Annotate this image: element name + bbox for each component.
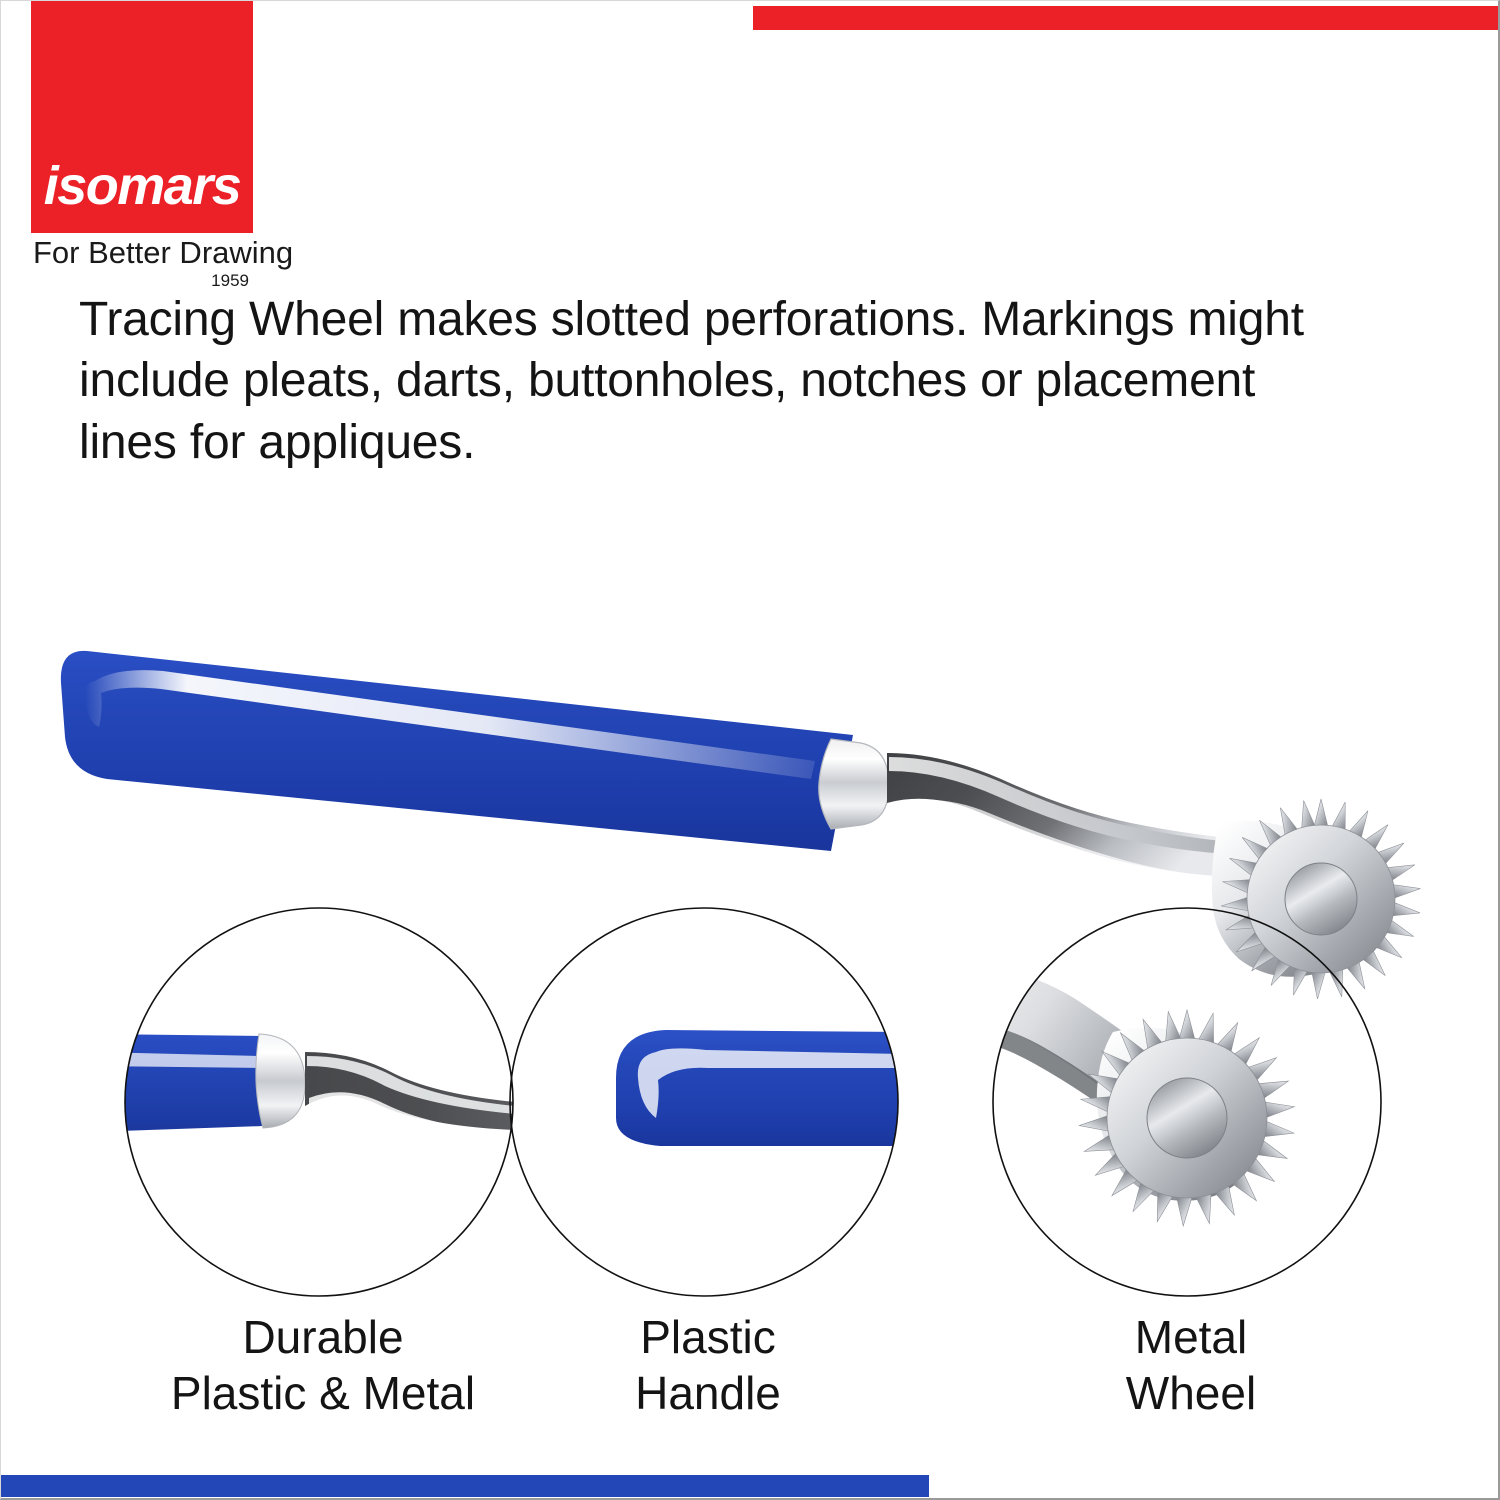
ferrule (256, 1034, 305, 1128)
ferrule-group (819, 739, 889, 829)
feature-label: Durable Plastic & Metal (123, 1309, 523, 1421)
detail-circle-handle-tip (508, 906, 900, 1298)
logo-square: isomars (31, 1, 253, 233)
wheel-hub (1147, 1078, 1227, 1158)
brand-logo: isomars For Better Drawing 1959 (31, 1, 253, 289)
feature-label: Plastic Handle (508, 1309, 908, 1421)
bottom-accent-bar (1, 1475, 929, 1497)
top-accent-bar (753, 6, 1499, 30)
detail-circle-toothed-wheel (991, 906, 1383, 1298)
handle-group (61, 651, 853, 851)
handle-section (123, 1034, 263, 1132)
detail-circle-ferrule-junction (123, 906, 515, 1298)
feature-label: Metal Wheel (991, 1309, 1391, 1421)
feature-list: Durable Plastic & Metal (1, 906, 1500, 1466)
ferrule (819, 739, 889, 829)
logo-wordmark: isomars (44, 159, 241, 213)
product-infographic: isomars For Better Drawing 1959 Tracing … (0, 0, 1500, 1500)
logo-year: 1959 (31, 272, 253, 289)
feature-durable-plastic-metal: Durable Plastic & Metal (123, 906, 523, 1421)
page-title: Tracing Wheel makes slotted perforations… (79, 289, 1304, 473)
feature-plastic-handle: Plastic Handle (508, 906, 908, 1421)
shaft-group (887, 753, 1251, 889)
feature-metal-wheel: Metal Wheel (991, 906, 1391, 1421)
logo-tagline: For Better Drawing (31, 237, 253, 270)
